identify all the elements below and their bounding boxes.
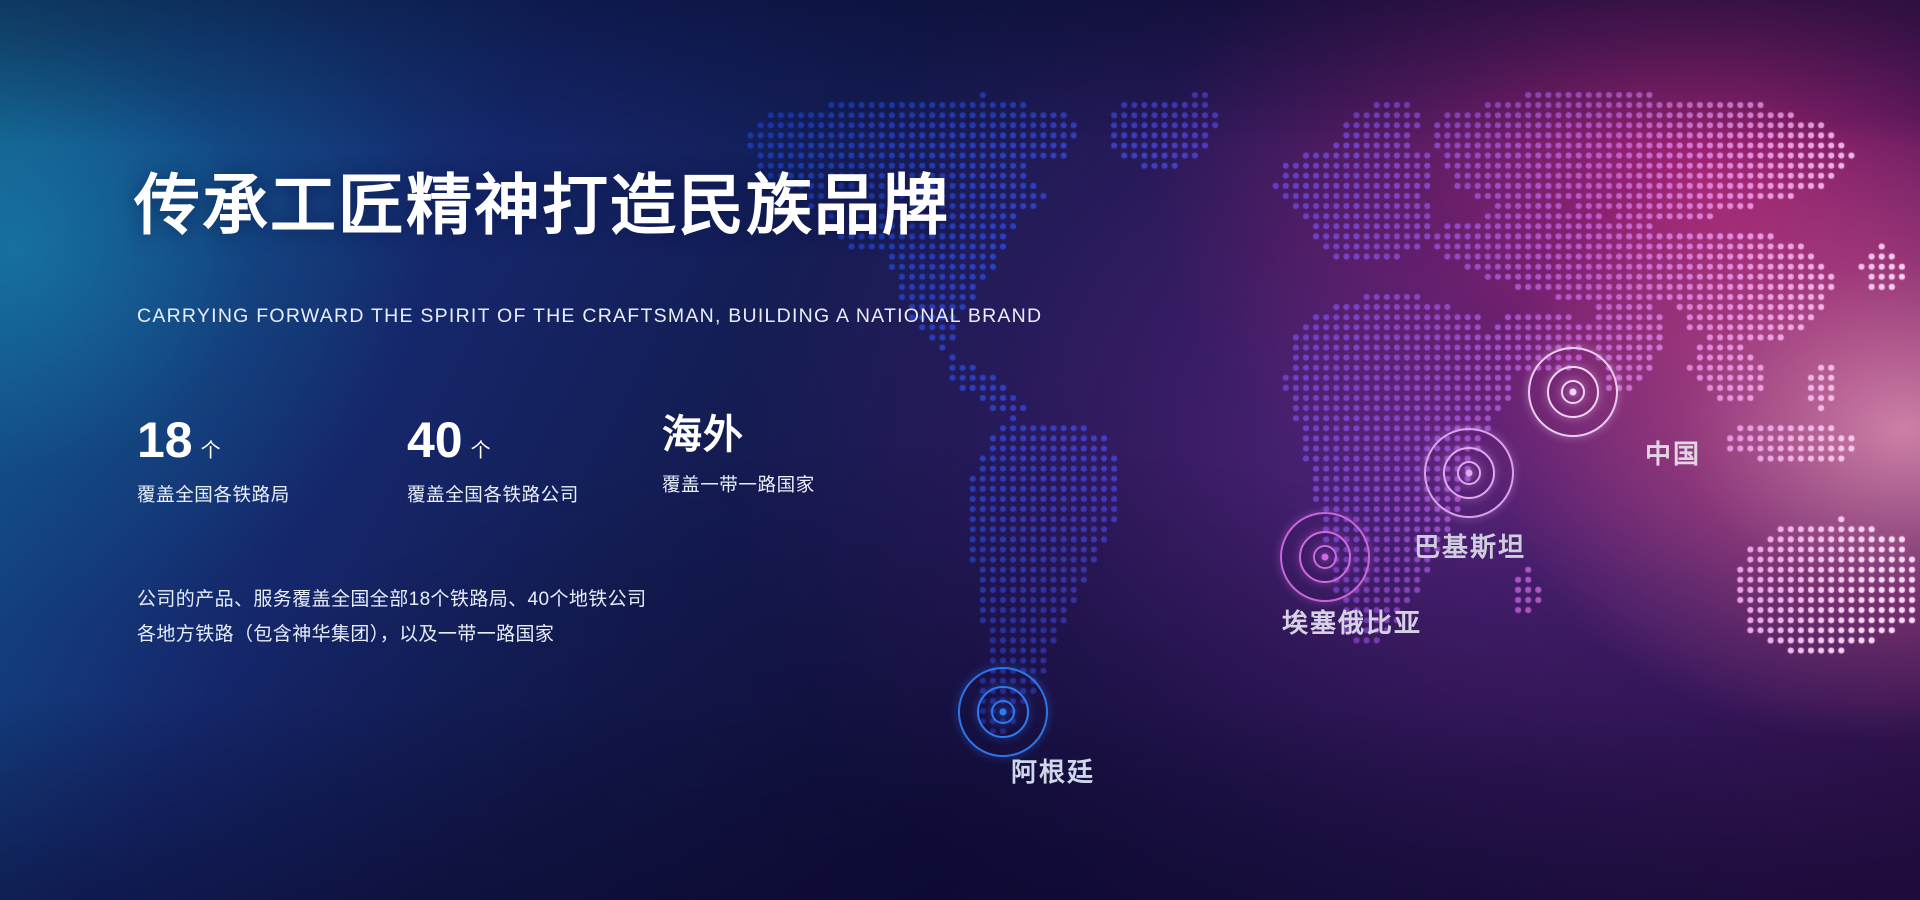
description-line-1: 公司的产品、服务覆盖全国全部18个铁路局、40个地铁公司	[137, 582, 646, 617]
map-label-ethiopia: 埃塞俄比亚	[1282, 603, 1422, 640]
map-label-pakistan: 巴基斯坦	[1414, 527, 1526, 564]
page-title: 传承工匠精神打造民族品牌	[134, 172, 950, 238]
stat-value-row: 40 个	[407, 415, 579, 465]
stat-value-row: 海外	[662, 415, 815, 455]
map-label-china: 中国	[1645, 434, 1701, 471]
marker-center-dot	[1000, 709, 1007, 716]
hero-banner: 传承工匠精神打造民族品牌 CARRYING FORWARD THE SPIRIT…	[0, 0, 1920, 900]
stat-value-row: 18 个	[137, 415, 290, 465]
stat-item-overseas: 海外 覆盖一带一路国家	[662, 415, 815, 497]
description-line-2: 各地方铁路（包含神华集团），以及一带一路国家	[137, 617, 646, 652]
stat-value: 40	[407, 415, 463, 465]
stat-unit: 个	[471, 441, 491, 461]
content-layer: 传承工匠精神打造民族品牌 CARRYING FORWARD THE SPIRIT…	[0, 0, 1920, 900]
description-block: 公司的产品、服务覆盖全国全部18个铁路局、40个地铁公司 各地方铁路（包含神华集…	[137, 582, 646, 652]
map-label-argentina: 阿根廷	[1011, 752, 1095, 789]
stat-label: 覆盖全国各铁路公司	[407, 481, 579, 507]
page-subtitle: CARRYING FORWARD THE SPIRIT OF THE CRAFT…	[137, 305, 1042, 328]
stat-value: 海外	[662, 415, 744, 455]
stat-label: 覆盖全国各铁路局	[137, 481, 290, 507]
stat-value: 18	[137, 415, 193, 465]
marker-center-dot	[1570, 389, 1577, 396]
marker-center-dot	[1322, 554, 1329, 561]
stat-label: 覆盖一带一路国家	[662, 471, 815, 497]
stat-item-railway-bureaus: 18 个 覆盖全国各铁路局	[137, 415, 290, 507]
marker-center-dot	[1466, 470, 1473, 477]
stat-item-railway-companies: 40 个 覆盖全国各铁路公司	[407, 415, 579, 507]
stats-row: 18 个 覆盖全国各铁路局 40 个 覆盖全国各铁路公司 海外 覆盖一带一路国家	[137, 415, 897, 525]
stat-unit: 个	[201, 441, 221, 461]
